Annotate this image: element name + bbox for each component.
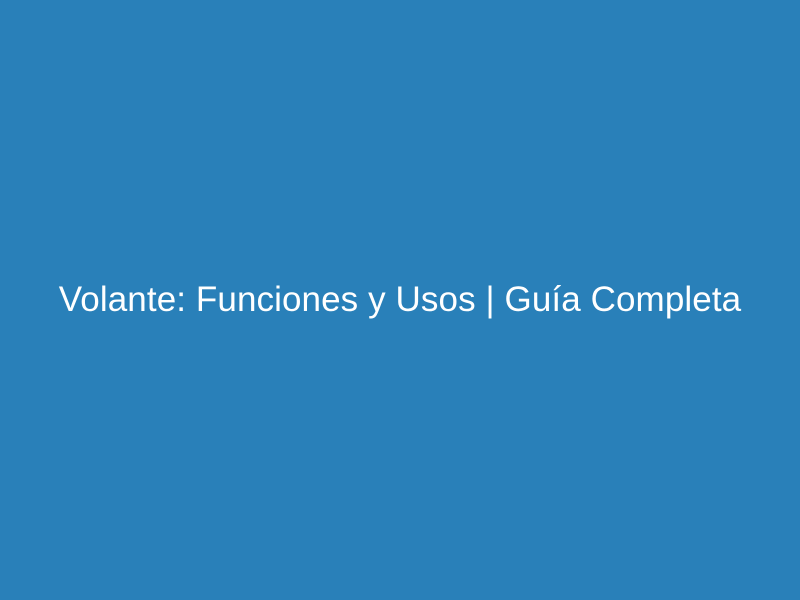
page-title: Volante: Funciones y Usos | Guía Complet… bbox=[40, 278, 760, 322]
featured-image-card: Volante: Funciones y Usos | Guía Complet… bbox=[0, 0, 800, 600]
card-content: Volante: Funciones y Usos | Guía Complet… bbox=[0, 278, 800, 322]
